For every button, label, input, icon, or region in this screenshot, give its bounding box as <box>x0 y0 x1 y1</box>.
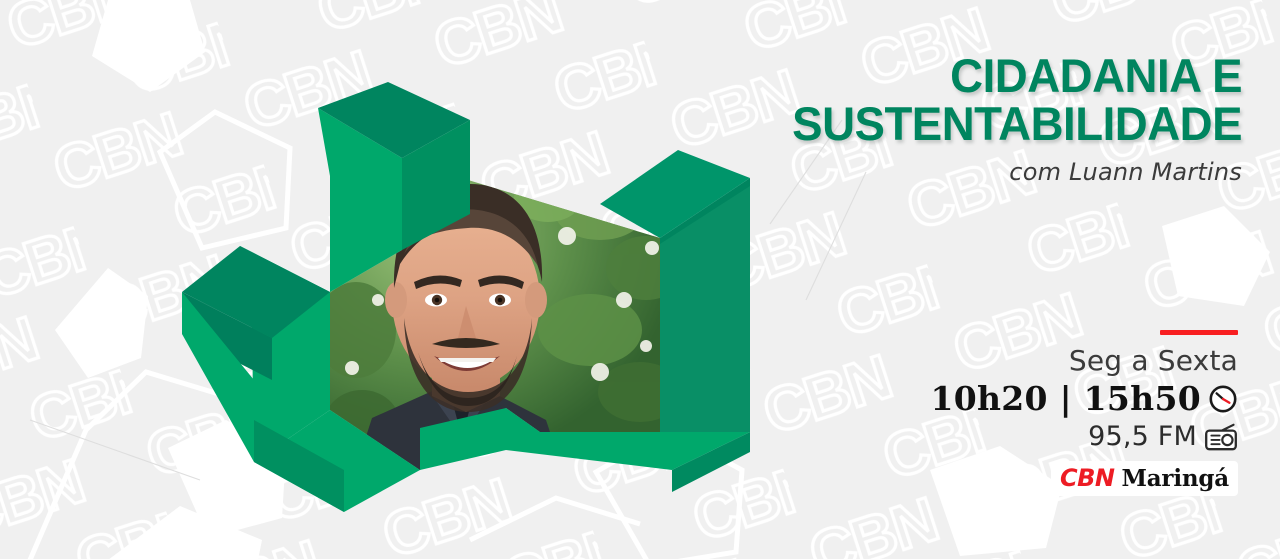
clock-icon <box>1208 384 1238 414</box>
station-city: Maringá <box>1121 465 1229 492</box>
radio-frequency: 95,5 FM <box>1088 421 1197 452</box>
schedule-times-row: 10h20 | 15h50 <box>898 379 1238 418</box>
program-title-block: CIDADANIA E SUSTENTABILIDADE com Luann M… <box>482 52 1242 186</box>
station-logo: CBN Maringá <box>1051 461 1238 496</box>
program-title-line-1: CIDADANIA E <box>505 52 1242 100</box>
text-layer: CIDADANIA E SUSTENTABILIDADE com Luann M… <box>0 0 1280 559</box>
schedule-days: Seg a Sexta <box>898 344 1238 377</box>
schedule-times: 10h20 | 15h50 <box>930 379 1201 418</box>
radio-icon <box>1204 423 1238 451</box>
red-divider-rule <box>1160 330 1238 335</box>
program-banner: CBN CBN <box>0 0 1280 559</box>
frequency-row: 95,5 FM <box>898 421 1238 452</box>
program-host-subtitle: com Luann Martins <box>482 158 1242 186</box>
station-brand: CBN <box>1060 464 1115 492</box>
program-title-line-2: SUSTENTABILIDADE <box>505 100 1242 148</box>
schedule-block: Seg a Sexta 10h20 | 15h50 95,5 FM <box>898 330 1238 496</box>
